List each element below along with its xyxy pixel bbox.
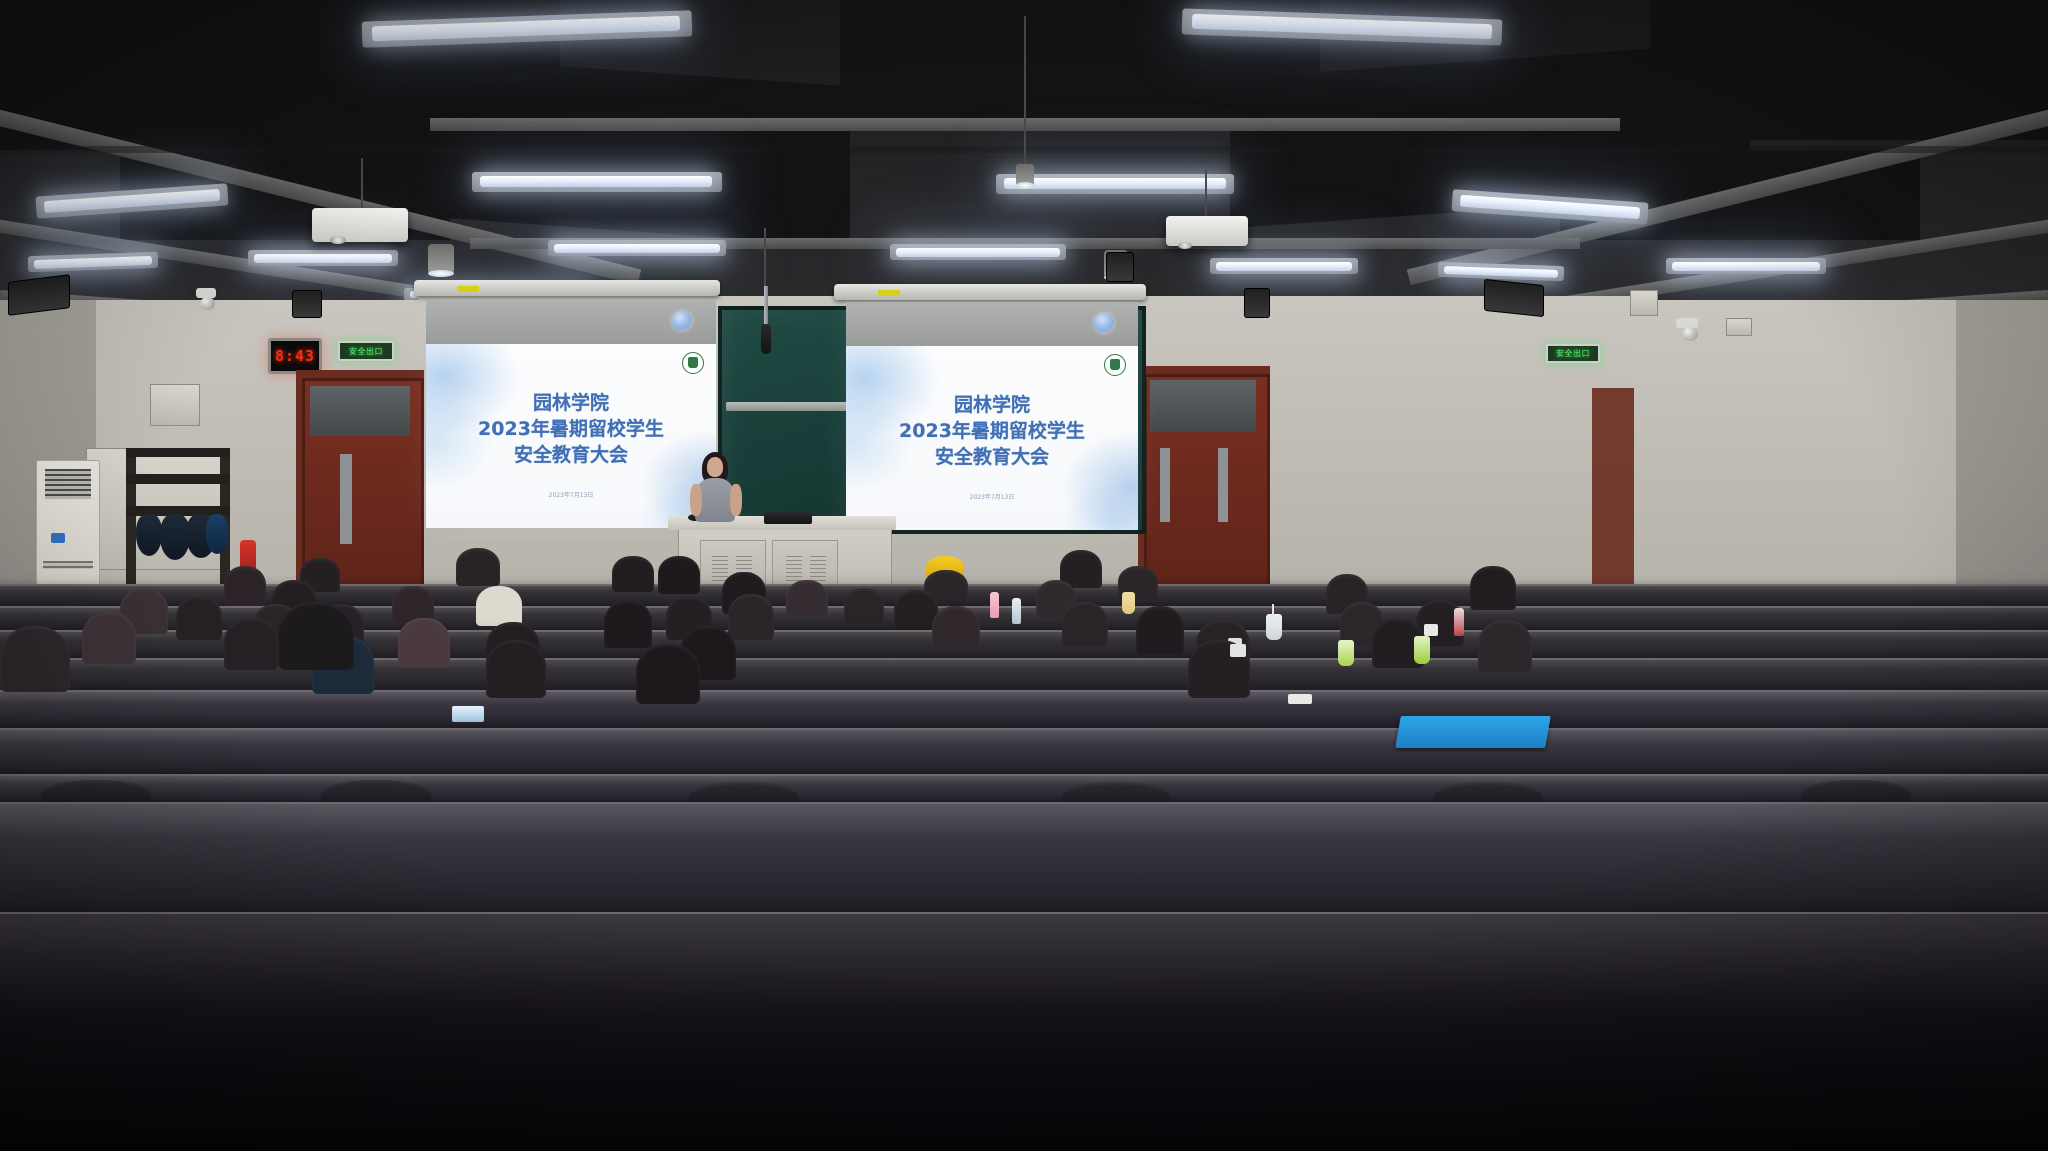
blue-folder xyxy=(1395,716,1551,748)
wall-junction-box xyxy=(1726,318,1752,336)
fluorescent-tube xyxy=(1216,262,1352,271)
cylinder-downlight xyxy=(1016,164,1034,186)
exit-sign-left: 安全出口 xyxy=(338,341,394,361)
slide-title-line1: 园林学院 xyxy=(426,392,716,414)
door-glass-strip xyxy=(1160,448,1170,522)
desk-row-2 xyxy=(0,690,2048,730)
smartphone xyxy=(452,706,484,722)
projector-lens xyxy=(330,236,346,244)
projector-left xyxy=(312,208,408,242)
university-seal-icon xyxy=(1104,354,1126,376)
desk-row-1 xyxy=(0,728,2048,776)
wall-junction-box xyxy=(1630,290,1658,316)
fluorescent-tube xyxy=(480,176,712,187)
screen-header-band xyxy=(426,300,716,344)
presenter-head xyxy=(707,457,723,477)
slide-left: 园林学院 2023年暑期留校学生 安全教育大会 2023年7月13日 xyxy=(426,344,716,528)
seat-head xyxy=(604,600,652,648)
microphone-body xyxy=(761,324,771,354)
cylinder-downlight xyxy=(428,244,454,274)
screen-housing-left xyxy=(414,280,720,296)
podium-control-panel xyxy=(764,512,812,524)
seat-head xyxy=(1470,566,1516,610)
projection-screen-left: 园林学院 2023年暑期留校学生 安全教育大会 2023年7月13日 xyxy=(426,300,716,528)
water-bottle-clear xyxy=(1012,598,1021,624)
presenter xyxy=(688,452,744,522)
screen-surface: 园林学院 2023年暑期留校学生 安全教育大会 2023年7月13日 xyxy=(846,302,1138,530)
camera-dome xyxy=(200,297,215,310)
seat-head xyxy=(278,602,354,670)
water-bottle-pink xyxy=(990,592,999,618)
wall-speaker-center-left xyxy=(292,290,322,318)
fluorescent-tube xyxy=(896,248,1060,257)
umbrella xyxy=(136,514,162,556)
exit-sign-right-label: 安全出口 xyxy=(1556,348,1590,359)
rack-bar xyxy=(126,474,230,484)
seat-head xyxy=(786,580,828,618)
hair-clip xyxy=(1230,644,1246,657)
door-window xyxy=(1150,380,1256,432)
seat-head xyxy=(612,556,654,592)
slide-right: 园林学院 2023年暑期留校学生 安全教育大会 2023年7月13日 xyxy=(846,346,1138,530)
ac-badge xyxy=(51,533,65,543)
seat-head xyxy=(1062,602,1108,646)
tissue-pack xyxy=(1288,694,1312,704)
led-clock-value: 8:43 xyxy=(275,347,315,365)
organization-logo-icon xyxy=(1094,313,1114,333)
door-window xyxy=(310,386,410,436)
seat-head xyxy=(398,618,450,668)
umbrella xyxy=(206,514,228,554)
seat-head xyxy=(932,606,980,652)
drink-cup-green xyxy=(1414,636,1430,664)
housing-tag xyxy=(457,286,479,292)
screen-surface: 园林学院 2023年暑期留校学生 安全教育大会 2023年7月13日 xyxy=(426,300,716,528)
fluorescent-tube xyxy=(1004,178,1226,189)
side-wall-right xyxy=(1956,300,2048,630)
rack-bar xyxy=(126,448,230,457)
cup-straw xyxy=(1272,604,1274,618)
slide-title-line3: 安全教育大会 xyxy=(846,446,1138,468)
slide-title-line3: 安全教育大会 xyxy=(426,444,716,466)
camera-dome xyxy=(1682,327,1698,341)
fluorescent-tube xyxy=(554,244,720,253)
wall-speaker-center-right xyxy=(1106,252,1134,282)
slide-title-line1: 园林学院 xyxy=(846,394,1138,416)
presenter-arm-left xyxy=(690,484,702,516)
desk-row-foreground-bottom xyxy=(0,912,2048,1151)
seat-head xyxy=(0,626,70,692)
security-camera-right xyxy=(1676,318,1710,346)
exit-sign-left-label: 安全出口 xyxy=(349,346,383,357)
drink-cup xyxy=(1266,614,1282,640)
seat-head xyxy=(224,566,266,606)
door-glass-strip xyxy=(1218,448,1228,522)
desk-row-foreground xyxy=(0,802,2048,914)
seat-head xyxy=(176,596,222,640)
seat-head xyxy=(1478,620,1532,672)
ac-lower-vent xyxy=(43,561,93,569)
led-clock-display: 8:43 xyxy=(268,338,322,374)
seat-head xyxy=(844,588,884,624)
fluorescent-tube xyxy=(254,254,392,263)
seat-head xyxy=(658,556,700,594)
ac-grille xyxy=(45,469,91,499)
screen-housing-right xyxy=(834,284,1146,300)
security-camera-left xyxy=(196,288,226,314)
seat-head xyxy=(1136,606,1184,654)
slide-title-line2: 2023年暑期留校学生 xyxy=(846,420,1138,442)
projector-lens xyxy=(1178,242,1192,249)
housing-tag xyxy=(878,290,900,296)
microphone-rod xyxy=(764,286,768,326)
pendant-rod xyxy=(1024,16,1026,166)
hair-clip xyxy=(1424,624,1438,636)
hanging-microphone xyxy=(758,286,774,358)
seat-head xyxy=(224,618,278,670)
projection-screen-right: 园林学院 2023年暑期留校学生 安全教育大会 2023年7月13日 xyxy=(846,302,1138,530)
university-seal-icon xyxy=(682,352,704,374)
fluorescent-tube xyxy=(1672,262,1820,271)
drink-cup xyxy=(1122,592,1135,614)
screen-header-band xyxy=(846,302,1138,346)
seat-head xyxy=(82,612,136,664)
wall-speaker-right xyxy=(1484,279,1544,317)
drink-cup-green xyxy=(1338,640,1354,666)
wall-speaker-far-right xyxy=(1244,288,1270,318)
slide-date: 2023年7月13日 xyxy=(426,490,716,499)
exit-sign-right: 安全出口 xyxy=(1546,344,1600,363)
electrical-panel-small xyxy=(150,384,200,426)
projector-mount-rod xyxy=(361,158,363,210)
organization-logo-icon xyxy=(672,311,692,331)
ceiling-coffer xyxy=(1650,0,2048,140)
seat-head xyxy=(728,594,774,640)
seat-head xyxy=(476,586,522,626)
door-glass-strip xyxy=(340,454,352,544)
projector-right xyxy=(1166,216,1248,246)
projector-mount-rod xyxy=(1205,170,1207,218)
lecture-hall-photo: 8:43 安全出口 安全出口 xyxy=(0,0,2048,1151)
slide-date: 2023年7月13日 xyxy=(846,492,1138,501)
water-bottle xyxy=(1454,608,1464,636)
seat-head xyxy=(456,548,500,586)
presenter-arm-right xyxy=(730,484,742,516)
slide-title-line2: 2023年暑期留校学生 xyxy=(426,418,716,440)
seat-head xyxy=(636,644,700,704)
desk-row-front xyxy=(0,774,2048,804)
seat-head xyxy=(486,640,546,698)
